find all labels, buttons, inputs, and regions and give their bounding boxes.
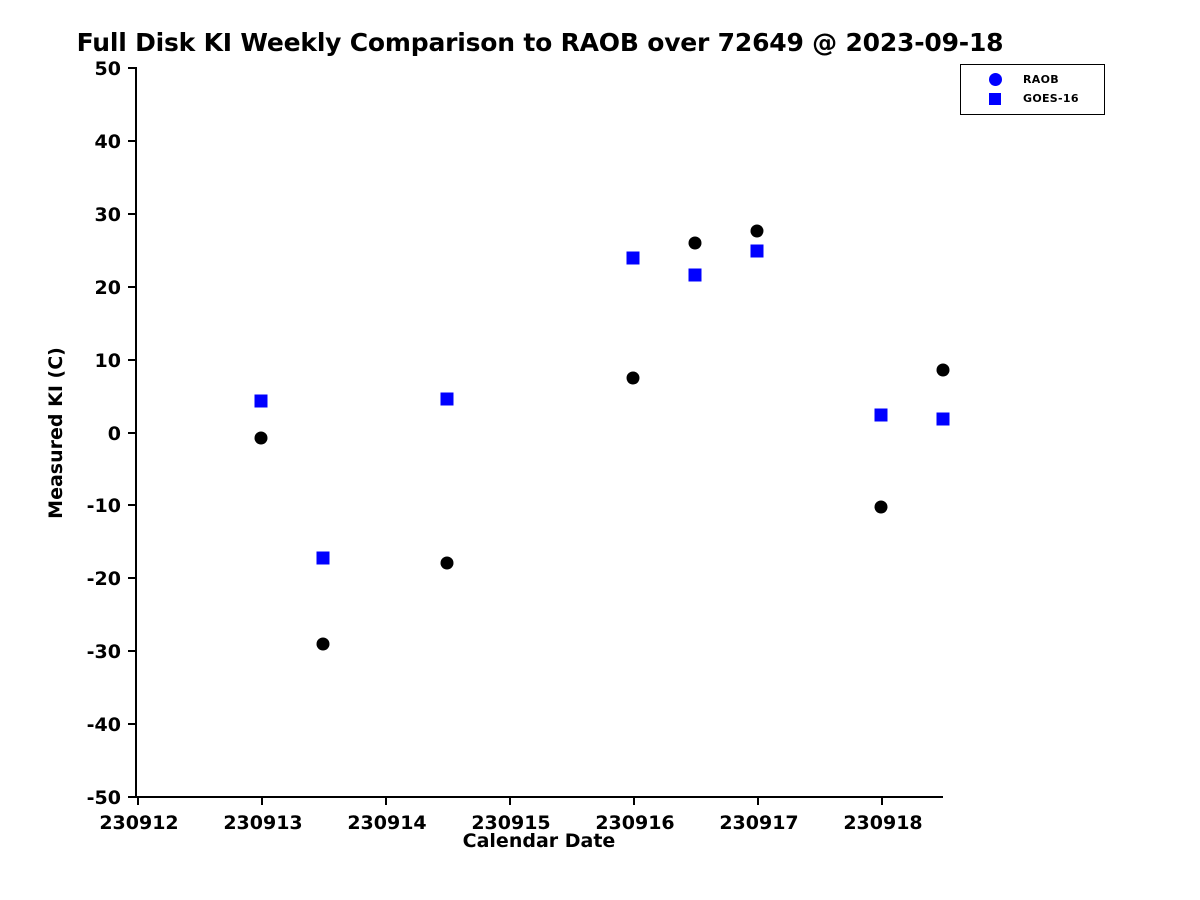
y-axis-tick-label: -20: [87, 568, 121, 590]
x-axis-tick: 230913: [261, 796, 263, 805]
y-axis-tick-label: 40: [95, 131, 121, 153]
plot-area: 50403020100-10-20-30-40-5023091223091323…: [135, 67, 943, 798]
x-axis-tick: 230914: [385, 796, 387, 805]
data-point-goes-16[interactable]: [255, 394, 268, 407]
y-axis-label: Measured KI (C): [45, 347, 67, 519]
y-axis-tick: -30: [128, 650, 137, 652]
marker-circle: [441, 556, 454, 569]
y-axis-tick: 20: [128, 286, 137, 288]
marker-circle: [875, 500, 888, 513]
x-axis-tick: 230918: [881, 796, 883, 805]
data-point-goes-16[interactable]: [751, 244, 764, 257]
marker-square: [751, 244, 764, 257]
marker-square: [627, 251, 640, 264]
data-point-raob[interactable]: [441, 556, 454, 569]
marker-circle: [627, 372, 640, 385]
y-axis-tick: -50: [128, 796, 137, 798]
chart-legend: RAOBGOES-16: [960, 64, 1105, 115]
y-axis-tick-label: 30: [95, 204, 121, 226]
marker-circle: [751, 225, 764, 238]
data-point-goes-16[interactable]: [875, 409, 888, 422]
data-point-goes-16[interactable]: [627, 251, 640, 264]
marker-square: [441, 392, 454, 405]
data-point-raob[interactable]: [875, 500, 888, 513]
legend-marker-cell: [967, 73, 1023, 86]
y-axis-tick: 50: [128, 67, 137, 69]
marker-square: [689, 268, 702, 281]
data-point-goes-16[interactable]: [317, 552, 330, 565]
data-point-raob[interactable]: [751, 225, 764, 238]
data-point-goes-16[interactable]: [441, 392, 454, 405]
y-axis-tick-label: 50: [95, 58, 121, 80]
y-axis-tick-label: -50: [87, 787, 121, 809]
marker-circle: [689, 237, 702, 250]
marker-square: [937, 413, 950, 426]
x-axis-tick: 230917: [757, 796, 759, 805]
marker-square: [255, 394, 268, 407]
data-point-raob[interactable]: [689, 237, 702, 250]
legend-marker-circle-icon: [989, 73, 1002, 86]
marker-circle: [317, 638, 330, 651]
legend-label: GOES-16: [1023, 92, 1079, 105]
x-axis-tick: 230916: [633, 796, 635, 805]
legend-label: RAOB: [1023, 73, 1059, 86]
data-point-raob[interactable]: [627, 372, 640, 385]
y-axis-tick: -20: [128, 577, 137, 579]
data-point-raob[interactable]: [937, 363, 950, 376]
y-axis-tick-label: 10: [95, 350, 121, 372]
x-axis-tick: 230912: [137, 796, 139, 805]
marker-square: [875, 409, 888, 422]
y-axis-tick: 10: [128, 359, 137, 361]
y-axis-tick: -10: [128, 504, 137, 506]
data-point-raob[interactable]: [255, 432, 268, 445]
marker-square: [317, 552, 330, 565]
chart-figure: Full Disk KI Weekly Comparison to RAOB o…: [0, 0, 1200, 900]
legend-item-goes-16[interactable]: GOES-16: [967, 89, 1098, 108]
y-axis-tick: 30: [128, 213, 137, 215]
y-axis-tick-label: 0: [108, 423, 121, 445]
legend-item-raob[interactable]: RAOB: [967, 70, 1098, 89]
chart-title: Full Disk KI Weekly Comparison to RAOB o…: [0, 28, 1080, 57]
y-axis-tick: -40: [128, 723, 137, 725]
legend-marker-square-icon: [989, 93, 1001, 105]
y-axis-tick-label: 20: [95, 277, 121, 299]
legend-marker-cell: [967, 93, 1023, 105]
data-point-goes-16[interactable]: [937, 413, 950, 426]
marker-circle: [255, 432, 268, 445]
x-axis-tick: 230915: [509, 796, 511, 805]
y-axis-tick-label: -40: [87, 714, 121, 736]
y-axis-tick: 40: [128, 140, 137, 142]
data-point-goes-16[interactable]: [689, 268, 702, 281]
data-point-raob[interactable]: [317, 638, 330, 651]
x-axis-label: Calendar Date: [135, 830, 943, 852]
marker-circle: [937, 363, 950, 376]
y-axis-tick: 0: [128, 432, 137, 434]
y-axis-tick-label: -10: [87, 495, 121, 517]
y-axis-tick-label: -30: [87, 641, 121, 663]
